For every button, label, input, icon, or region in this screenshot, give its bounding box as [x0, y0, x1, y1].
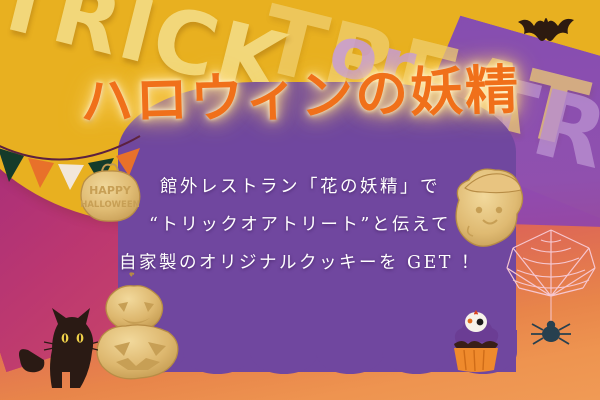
spider-icon [531, 321, 571, 344]
body-line-2: “トリックオアトリート”と伝えて [0, 206, 600, 244]
jack-o-lantern-cookie-icon [88, 272, 184, 382]
body-line-1: 館外レストラン「花の妖精」で [0, 168, 600, 206]
body-line-3: 自家製のオリジナルクッキーを GET ！ [0, 244, 600, 282]
black-cat-icon [14, 302, 98, 394]
halloween-poster: TREAT TREAT or TRICK HAPPY HALLOWEEN [0, 0, 600, 400]
body-copy: 館外レストラン「花の妖精」で “トリックオアトリート”と伝えて 自家製のオリジナ… [0, 168, 600, 282]
cupcake-icon [444, 308, 506, 374]
